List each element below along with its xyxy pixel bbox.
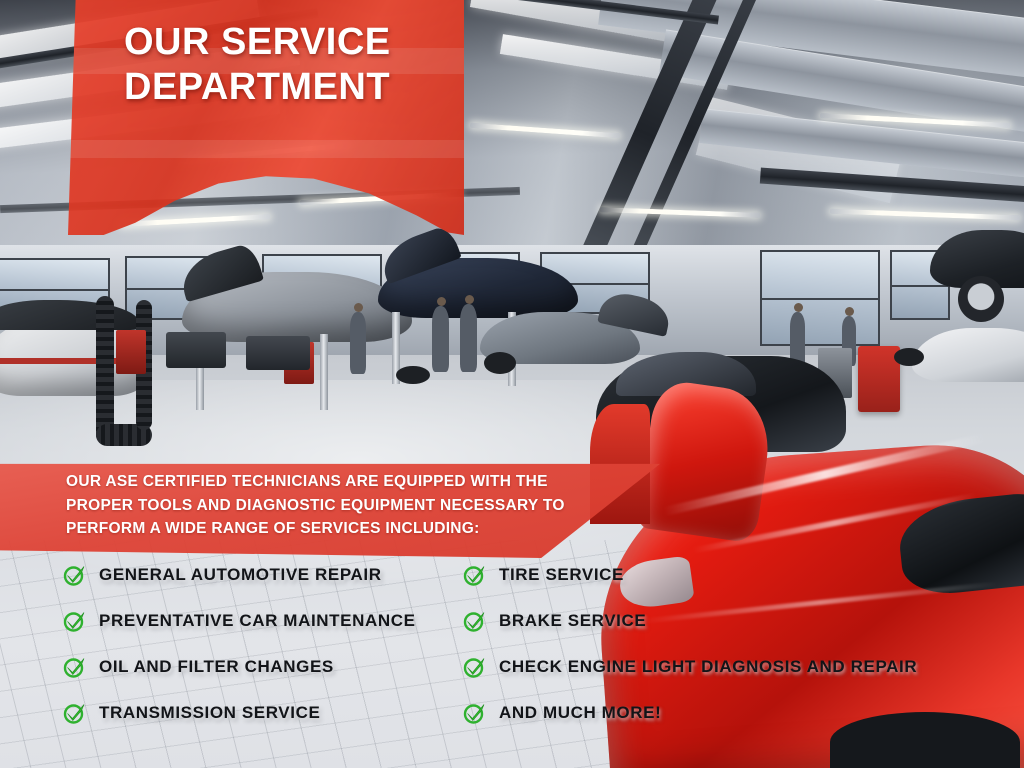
service-label: CHECK ENGINE LIGHT DIAGNOSIS AND REPAIR (499, 657, 917, 677)
green-check-icon (462, 609, 487, 634)
service-label: OIL AND FILTER CHANGES (99, 657, 334, 677)
description-line-1: OUR ASE CERTIFIED TECHNICIANS ARE EQUIPP… (66, 470, 626, 494)
services-column-left: GENERAL AUTOMOTIVE REPAIR PREVENTATIVE C… (62, 552, 462, 736)
service-label: AND MUCH MORE! (499, 703, 661, 723)
page-title: OUR SERVICE DEPARTMENT (124, 20, 464, 110)
workbench (166, 332, 226, 368)
green-check-icon (62, 701, 87, 726)
tire (396, 366, 430, 384)
description-line-2: PROPER TOOLS AND DIAGNOSTIC EQUIPMENT NE… (66, 494, 626, 518)
service-label: BRAKE SERVICE (499, 611, 646, 631)
exhaust-hose (96, 296, 114, 444)
tire (894, 348, 924, 366)
page-title-line-1: OUR SERVICE (124, 20, 464, 65)
mechanic (460, 304, 477, 372)
mechanic (432, 306, 449, 372)
mechanic (350, 312, 366, 374)
green-check-icon (462, 701, 487, 726)
green-check-icon (62, 563, 87, 588)
service-item: AND MUCH MORE! (462, 690, 1002, 736)
service-item: BRAKE SERVICE (462, 598, 1002, 644)
garage-door-window (760, 250, 880, 346)
workbench (246, 336, 310, 370)
service-item: CHECK ENGINE LIGHT DIAGNOSIS AND REPAIR (462, 644, 1002, 690)
green-check-icon (62, 609, 87, 634)
tire (484, 352, 516, 374)
service-label: GENERAL AUTOMOTIVE REPAIR (99, 565, 382, 585)
page-title-line-2: DEPARTMENT (124, 65, 464, 110)
services-checklist: GENERAL AUTOMOTIVE REPAIR PREVENTATIVE C… (0, 552, 1024, 742)
lift-post (320, 334, 328, 410)
banner-sheen (68, 140, 464, 158)
service-label: TIRE SERVICE (499, 565, 624, 585)
services-column-right: TIRE SERVICE BRAKE SERVICE (462, 552, 1002, 736)
green-check-icon (462, 655, 487, 680)
tool-cart (116, 330, 146, 374)
service-item: PREVENTATIVE CAR MAINTENANCE (62, 598, 462, 644)
service-item: GENERAL AUTOMOTIVE REPAIR (62, 552, 462, 598)
service-item: TIRE SERVICE (462, 552, 1002, 598)
service-department-poster: E3 23 UA OUR SERVICE DEPARTMENT OUR ASE … (0, 0, 1024, 768)
description-text: OUR ASE CERTIFIED TECHNICIANS ARE EQUIPP… (66, 470, 626, 541)
service-label: PREVENTATIVE CAR MAINTENANCE (99, 611, 416, 631)
green-check-icon (462, 563, 487, 588)
wheel (958, 276, 1004, 322)
service-item: TRANSMISSION SERVICE (62, 690, 462, 736)
service-item: OIL AND FILTER CHANGES (62, 644, 462, 690)
green-check-icon (62, 655, 87, 680)
service-label: TRANSMISSION SERVICE (99, 703, 320, 723)
description-line-3: PERFORM A WIDE RANGE OF SERVICES INCLUDI… (66, 517, 626, 541)
